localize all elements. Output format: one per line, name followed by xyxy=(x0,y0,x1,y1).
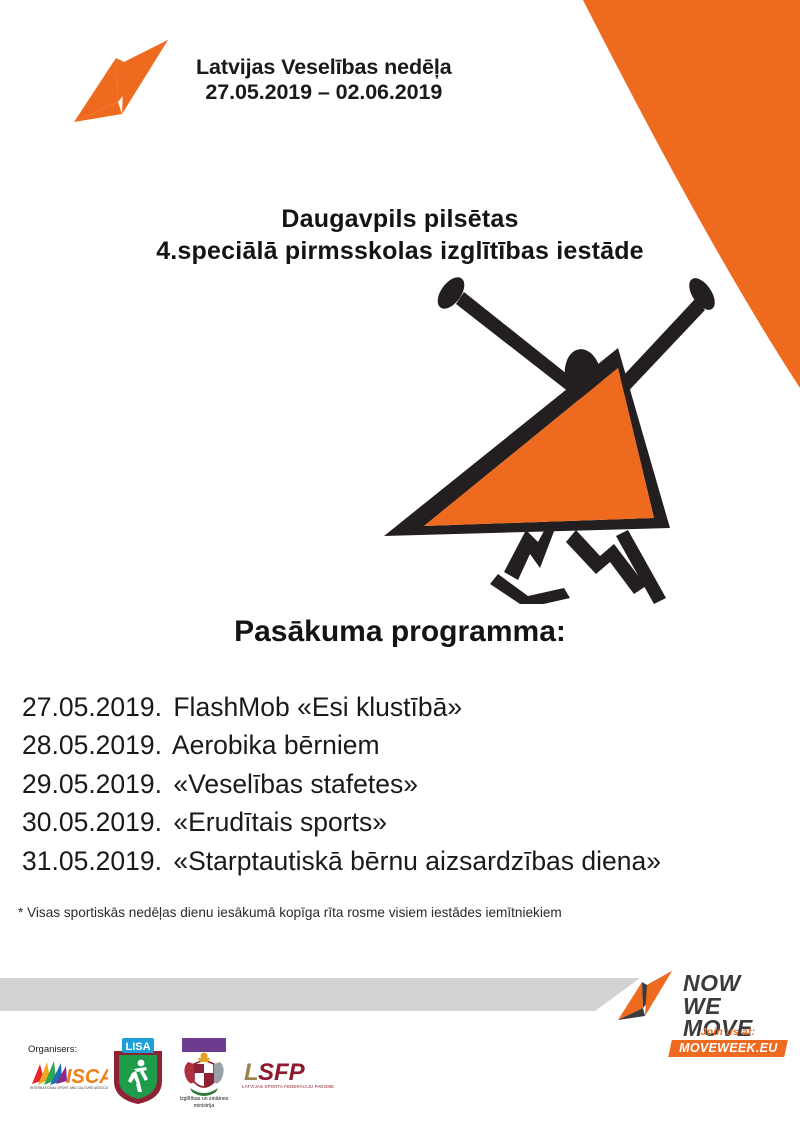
footer-grey-band xyxy=(0,978,640,1011)
programme-item-activity: Aerobika bērniem xyxy=(172,730,380,760)
isca-logo-caption: INTERNATIONAL SPORT AND CULTURE ASSOCIAT… xyxy=(30,1086,108,1090)
izm-caption-line1: Izglītības un zinātnes xyxy=(166,1096,242,1103)
join-us-label: Join us at: xyxy=(663,1026,793,1038)
nowwemove-butterfly-icon xyxy=(60,30,182,130)
nowwemove-tagline: Join us at: MOVEWEEK.EU xyxy=(663,1026,793,1057)
organisers-row: Organisers: ISCA INTERNATIONAL SPORT AND… xyxy=(0,1034,360,1129)
isca-logo: ISCA xyxy=(30,1058,108,1088)
programme-heading: Pasākuma programma: xyxy=(0,615,800,649)
programme-item-activity: FlashMob «Esi klustībā» xyxy=(173,692,462,722)
programme-item-activity: «Veselības stafetes» xyxy=(173,769,418,799)
organisers-label: Organisers: xyxy=(28,1044,77,1055)
footnote-text: * Visas sportiskās nedēļas dienu iesākum… xyxy=(18,905,788,920)
poster-canvas: Latvijas Veselības nedēļa 27.05.2019 – 0… xyxy=(0,0,800,1131)
institution-heading: Daugavpils pilsētas 4.speciālā pirmsskol… xyxy=(0,203,800,267)
list-item: 31.05.2019. «Starptautiskā bērnu aizsard… xyxy=(22,842,782,880)
institution-line2: 4.speciālā pirmsskolas izglītības iestād… xyxy=(0,235,800,267)
svg-text:SFP: SFP xyxy=(258,1059,306,1086)
moveweek-url-badge[interactable]: MOVEWEEK.EU xyxy=(668,1040,788,1057)
izm-logo-caption: Izglītības un zinātnes ministrija xyxy=(166,1096,242,1110)
svg-text:LISA: LISA xyxy=(125,1041,150,1053)
lsfp-logo-caption: LATVIJAS SPORTA FEDERĀCIJU PADOME xyxy=(242,1084,328,1089)
programme-item-date: 27.05.2019. xyxy=(22,692,162,722)
nowwemove-butterfly-icon xyxy=(612,966,678,1026)
programme-item-date: 31.05.2019. xyxy=(22,846,162,876)
lisa-logo: LISA xyxy=(110,1037,166,1105)
list-item: 29.05.2019. «Veselības stafetes» xyxy=(22,765,782,803)
programme-heading-text: Pasākuma programma: xyxy=(234,615,566,648)
dancing-figure-illustration xyxy=(378,268,722,604)
list-item: 30.05.2019. «Erudītais sports» xyxy=(22,803,782,841)
institution-line1: Daugavpils pilsētas xyxy=(0,203,800,235)
programme-item-date: 28.05.2019. xyxy=(22,730,162,760)
header-title-block: Latvijas Veselības nedēļa 27.05.2019 – 0… xyxy=(196,55,452,106)
izm-caption-line2: ministrija xyxy=(166,1103,242,1110)
header-title-line2: 27.05.2019 – 02.06.2019 xyxy=(196,80,452,105)
svg-text:L: L xyxy=(244,1059,259,1086)
list-item: 28.05.2019. Aerobika bērniem xyxy=(22,726,782,764)
programme-item-date: 30.05.2019. xyxy=(22,807,162,837)
list-item: 27.05.2019. FlashMob «Esi klustībā» xyxy=(22,688,782,726)
programme-item-date: 29.05.2019. xyxy=(22,769,162,799)
header-brand-lockup: Latvijas Veselības nedēļa 27.05.2019 – 0… xyxy=(60,30,452,130)
moveweek-url-text: MOVEWEEK.EU xyxy=(679,1041,777,1055)
programme-item-activity: «Starptautiskā bērnu aizsardzības diena» xyxy=(173,846,661,876)
header-title-line1: Latvijas Veselības nedēļa xyxy=(196,55,452,80)
programme-item-activity: «Erudītais sports» xyxy=(173,807,387,837)
programme-list: 27.05.2019. FlashMob «Esi klustībā» 28.0… xyxy=(22,688,782,880)
nwm-line1: NOW xyxy=(683,972,792,995)
svg-text:ISCA: ISCA xyxy=(66,1066,108,1088)
